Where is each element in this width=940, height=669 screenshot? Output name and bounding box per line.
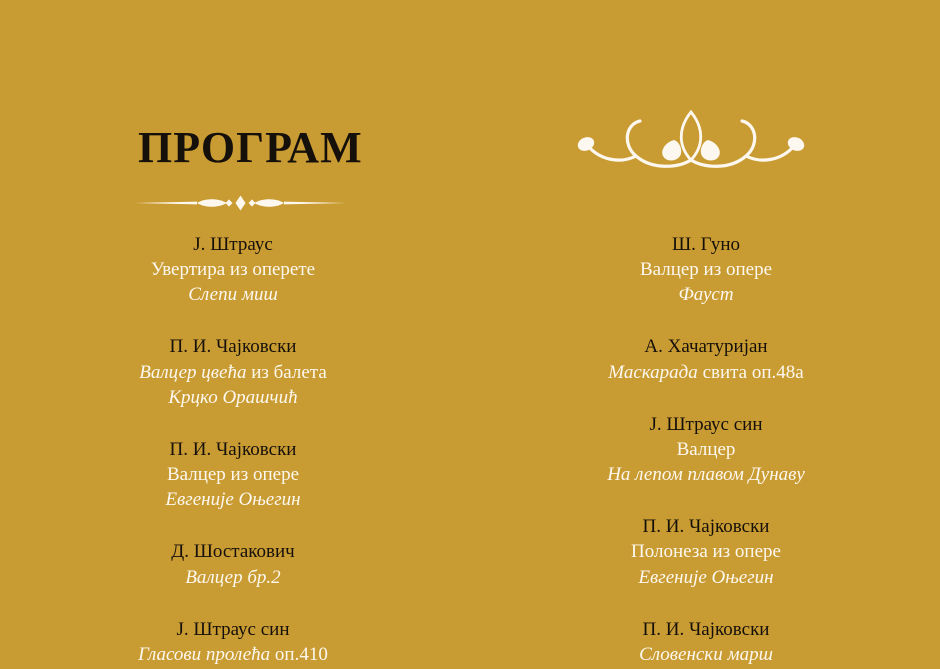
program-entry: Ј. Штраус Увертира из оперете Слепи миш bbox=[102, 232, 364, 307]
work-opus-part: оп.410 bbox=[270, 644, 328, 665]
page-title: ПРОГРАМ bbox=[138, 126, 363, 170]
composer-name: П. И. Чајковски bbox=[575, 514, 837, 539]
work-title: Евгеније Оњегин bbox=[575, 565, 837, 590]
work-title: Крцко Орашчић bbox=[102, 385, 364, 410]
composer-name: Д. Шостакович bbox=[102, 539, 364, 564]
work-title-part: Маскарада bbox=[608, 362, 698, 383]
work-line: Увертира из оперете bbox=[102, 257, 364, 282]
composer-name: Ј. Штраус син bbox=[575, 412, 837, 437]
work-opus-part: свита оп.48а bbox=[698, 362, 804, 383]
program-page: ПРОГРАМ bbox=[0, 0, 940, 669]
work-title: Словенски марш bbox=[575, 642, 837, 667]
composer-name: А. Хачатуријан bbox=[575, 334, 837, 359]
program-entry: П. И. Чајковски Полонеза из опере Евгени… bbox=[575, 514, 837, 589]
work-descriptor-part: из балета bbox=[246, 362, 326, 383]
program-entry: А. Хачатуријан Маскарада свита оп.48а bbox=[575, 334, 837, 384]
work-title: Валцер бр.2 bbox=[102, 565, 364, 590]
work-title: Евгеније Оњегин bbox=[102, 487, 364, 512]
work-line: Полонеза из опере bbox=[575, 539, 837, 564]
work-line: Гласови пролећа оп.410 bbox=[102, 642, 364, 667]
composer-name: П. И. Чајковски bbox=[575, 617, 837, 642]
work-title-part: Гласови пролећа bbox=[138, 644, 270, 665]
program-entry: П. И. Чајковски Валцер из опере Евгеније… bbox=[102, 437, 364, 512]
composer-name: Ј. Штраус син bbox=[102, 617, 364, 642]
work-title: Фауст bbox=[575, 282, 837, 307]
program-entry: П. И. Чајковски Словенски марш bbox=[575, 617, 837, 667]
program-entry: Ј. Штраус син Гласови пролећа оп.410 bbox=[102, 617, 364, 667]
work-line: Валцер из опере bbox=[102, 462, 364, 487]
program-entry: Ш. Гуно Валцер из опере Фауст bbox=[575, 232, 837, 307]
composer-name: Ј. Штраус bbox=[102, 232, 364, 257]
composer-name: Ш. Гуно bbox=[575, 232, 837, 257]
ornamental-divider-icon bbox=[133, 190, 348, 216]
composer-name: П. И. Чајковски bbox=[102, 437, 364, 462]
program-entry: Д. Шостакович Валцер бр.2 bbox=[102, 539, 364, 589]
composer-name: П. И. Чајковски bbox=[102, 334, 364, 359]
work-title: Слепи миш bbox=[102, 282, 364, 307]
work-line: Маскарада свита оп.48а bbox=[575, 360, 837, 385]
work-line: Валцер из опере bbox=[575, 257, 837, 282]
program-column-right: Ш. Гуно Валцер из опере Фауст А. Хачатур… bbox=[575, 232, 837, 667]
floral-flourish-ornament-icon bbox=[566, 94, 816, 174]
work-line: Валцер цвећа из балета bbox=[102, 360, 364, 385]
work-title-part: Валцер цвећа bbox=[139, 362, 246, 383]
work-title: На лепом плавом Дунаву bbox=[575, 462, 837, 487]
work-line: Валцер bbox=[575, 437, 837, 462]
program-entry: П. И. Чајковски Валцер цвећа из балета К… bbox=[102, 334, 364, 409]
program-entry: Ј. Штраус син Валцер На лепом плавом Дун… bbox=[575, 412, 837, 487]
program-column-left: Ј. Штраус Увертира из оперете Слепи миш … bbox=[102, 232, 364, 667]
